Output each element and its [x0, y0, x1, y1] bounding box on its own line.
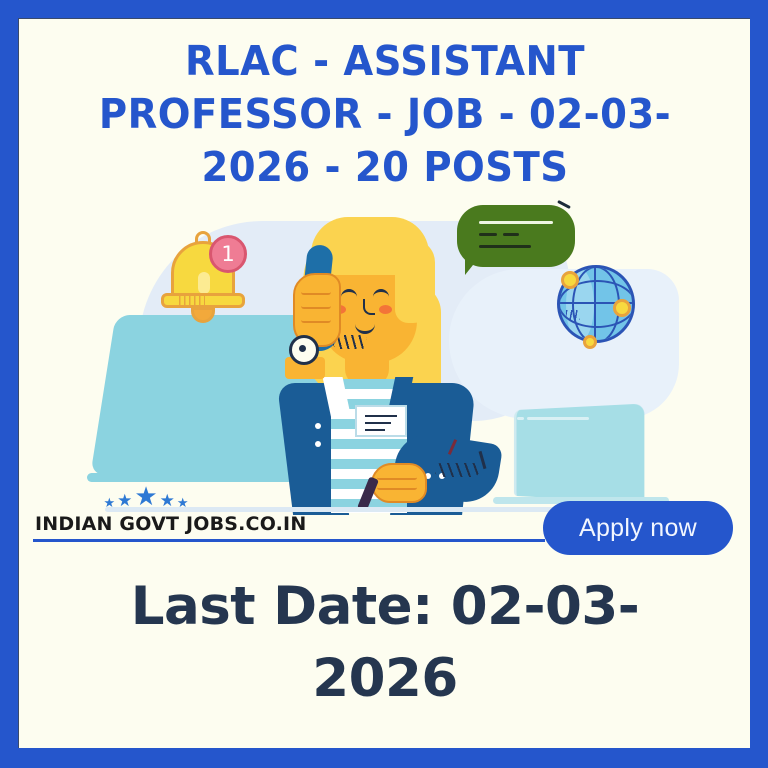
title-line-2: PROFESSOR - JOB - 02-03-	[65, 88, 704, 141]
finger-2	[301, 303, 331, 309]
nose	[363, 299, 375, 315]
last-date-line-1: Last Date: 02-03-	[131, 576, 640, 637]
brand-underline	[33, 539, 545, 542]
globe-icon	[549, 257, 643, 351]
last-date-line-2: 2026	[312, 648, 458, 709]
blazer-button-1	[315, 423, 321, 429]
eye-right	[373, 289, 389, 302]
star-small-left: ★	[103, 496, 115, 509]
title-line-1: RLAC - ASSISTANT	[65, 35, 704, 88]
star-large-center: ★	[134, 483, 157, 509]
poster-card: RLAC - ASSISTANT PROFESSOR - JOB - 02-03…	[18, 18, 750, 748]
id-badge-line-1	[365, 415, 397, 417]
finger-3	[301, 317, 331, 323]
id-badge-line-2	[365, 422, 391, 424]
last-date-text: Last Date: 02-03- 2026	[19, 571, 750, 715]
bell-shine	[198, 272, 210, 294]
hair-lock	[395, 239, 435, 323]
bell-clapper	[191, 307, 215, 323]
apply-now-button[interactable]: Apply now	[543, 501, 733, 555]
star-medium-right: ★	[160, 492, 175, 509]
cheek-right	[379, 305, 392, 314]
globe-pin-3	[583, 335, 597, 349]
bell-badge-count: 1	[209, 235, 247, 273]
call-center-woman-illustration	[245, 211, 495, 511]
globe-pin-1	[561, 271, 579, 289]
blazer-button-2	[315, 441, 321, 447]
watch-dial-dot	[299, 345, 306, 352]
laptop-right-screen-dot	[517, 417, 524, 420]
star-medium-left: ★	[117, 492, 132, 509]
laptop-right-screen-bar	[527, 417, 589, 420]
globe-pin-2	[613, 299, 631, 317]
id-badge	[355, 405, 407, 437]
id-badge-line-3	[365, 429, 385, 431]
stars-icon: ★ ★ ★ ★ ★	[109, 483, 183, 509]
finger-1	[301, 289, 331, 295]
bell-hatch-lines	[179, 295, 205, 305]
job-poster: RLAC - ASSISTANT PROFESSOR - JOB - 02-03…	[0, 0, 768, 768]
speech-bubble-line-2b	[503, 233, 519, 236]
page-title: RLAC - ASSISTANT PROFESSOR - JOB - 02-03…	[19, 35, 750, 194]
globe-tick-marks	[566, 310, 580, 320]
logo-and-cta-row: ★ ★ ★ ★ ★ INDIAN GOVT JOBS.CO.IN Apply n…	[19, 471, 750, 563]
title-line-3: 2026 - 20 POSTS	[65, 141, 704, 194]
eye-left	[341, 289, 357, 302]
notification-bell-icon: 1	[157, 223, 253, 329]
star-small-right: ★	[177, 496, 189, 509]
brand-name: INDIAN GOVT JOBS.CO.IN	[35, 513, 306, 535]
